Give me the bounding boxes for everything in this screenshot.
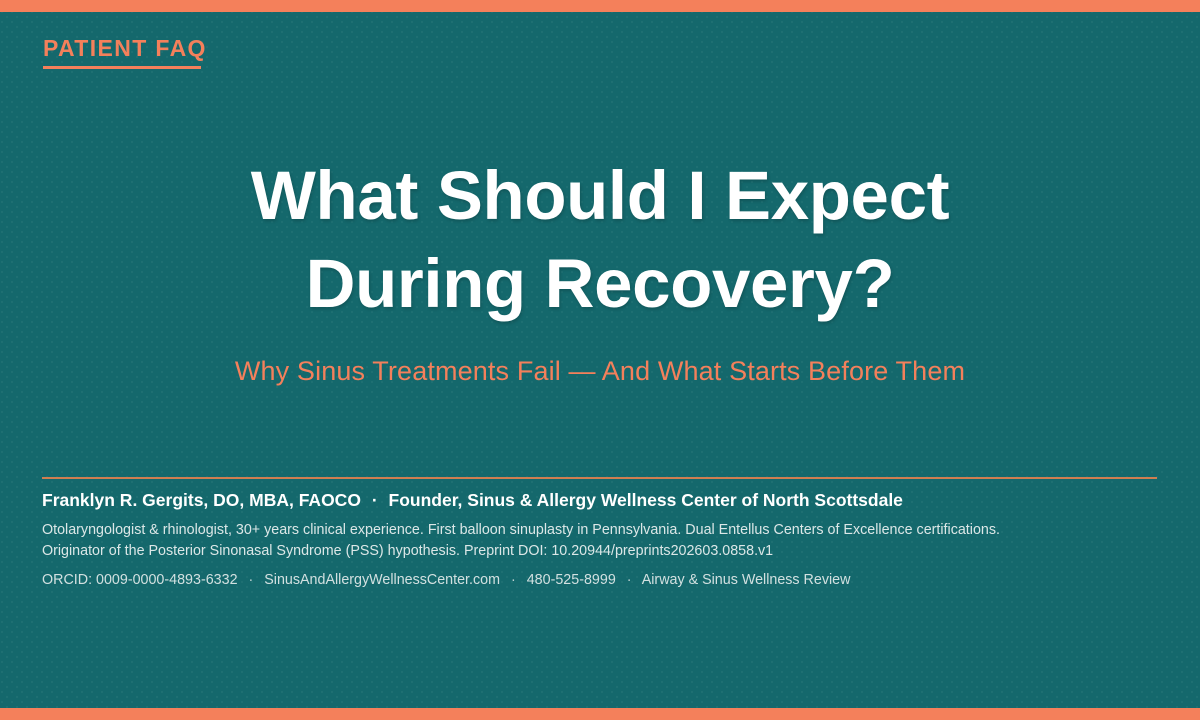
- title-block: What Should I Expect During Recovery? Wh…: [0, 152, 1200, 389]
- meta-separator-3: ·: [620, 572, 639, 588]
- byline-block: Franklyn R. Gergits, DO, MBA, FAOCO · Fo…: [42, 489, 1162, 592]
- author-affiliation: Founder, Sinus & Allergy Wellness Center…: [389, 490, 903, 510]
- meta-separator-1: ·: [242, 572, 261, 588]
- page-title-line-2: During Recovery?: [0, 240, 1200, 328]
- publication-name: Airway & Sinus Wellness Review: [642, 572, 851, 588]
- kicker-underline: [43, 66, 201, 69]
- orcid-id: ORCID: 0009-0000-4893-6332: [42, 572, 238, 588]
- byline-divider: [42, 477, 1157, 479]
- meta-separator-2: ·: [504, 572, 523, 588]
- author-meta-line: ORCID: 0009-0000-4893-6332 · SinusAndAll…: [42, 570, 1162, 591]
- author-line: Franklyn R. Gergits, DO, MBA, FAOCO · Fo…: [42, 489, 1162, 513]
- page-title: What Should I Expect During Recovery?: [0, 152, 1200, 329]
- page-title-line-1: What Should I Expect: [0, 152, 1200, 240]
- website-link[interactable]: SinusAndAllergyWellnessCenter.com: [264, 572, 500, 588]
- kicker-label: PATIENT FAQ: [43, 36, 207, 61]
- author-separator: ·: [366, 490, 384, 510]
- top-accent-bar: [0, 0, 1200, 12]
- bottom-accent-bar: [0, 708, 1200, 720]
- author-bio: Otolaryngologist & rhinologist, 30+ year…: [42, 520, 1042, 563]
- page-subtitle: Why Sinus Treatments Fail — And What Sta…: [0, 354, 1200, 389]
- author-name: Franklyn R. Gergits, DO, MBA, FAOCO: [42, 490, 361, 510]
- slide-canvas: PATIENT FAQ What Should I Expect During …: [0, 0, 1200, 720]
- kicker-block: PATIENT FAQ: [43, 36, 207, 69]
- phone-number[interactable]: 480-525-8999: [527, 572, 616, 588]
